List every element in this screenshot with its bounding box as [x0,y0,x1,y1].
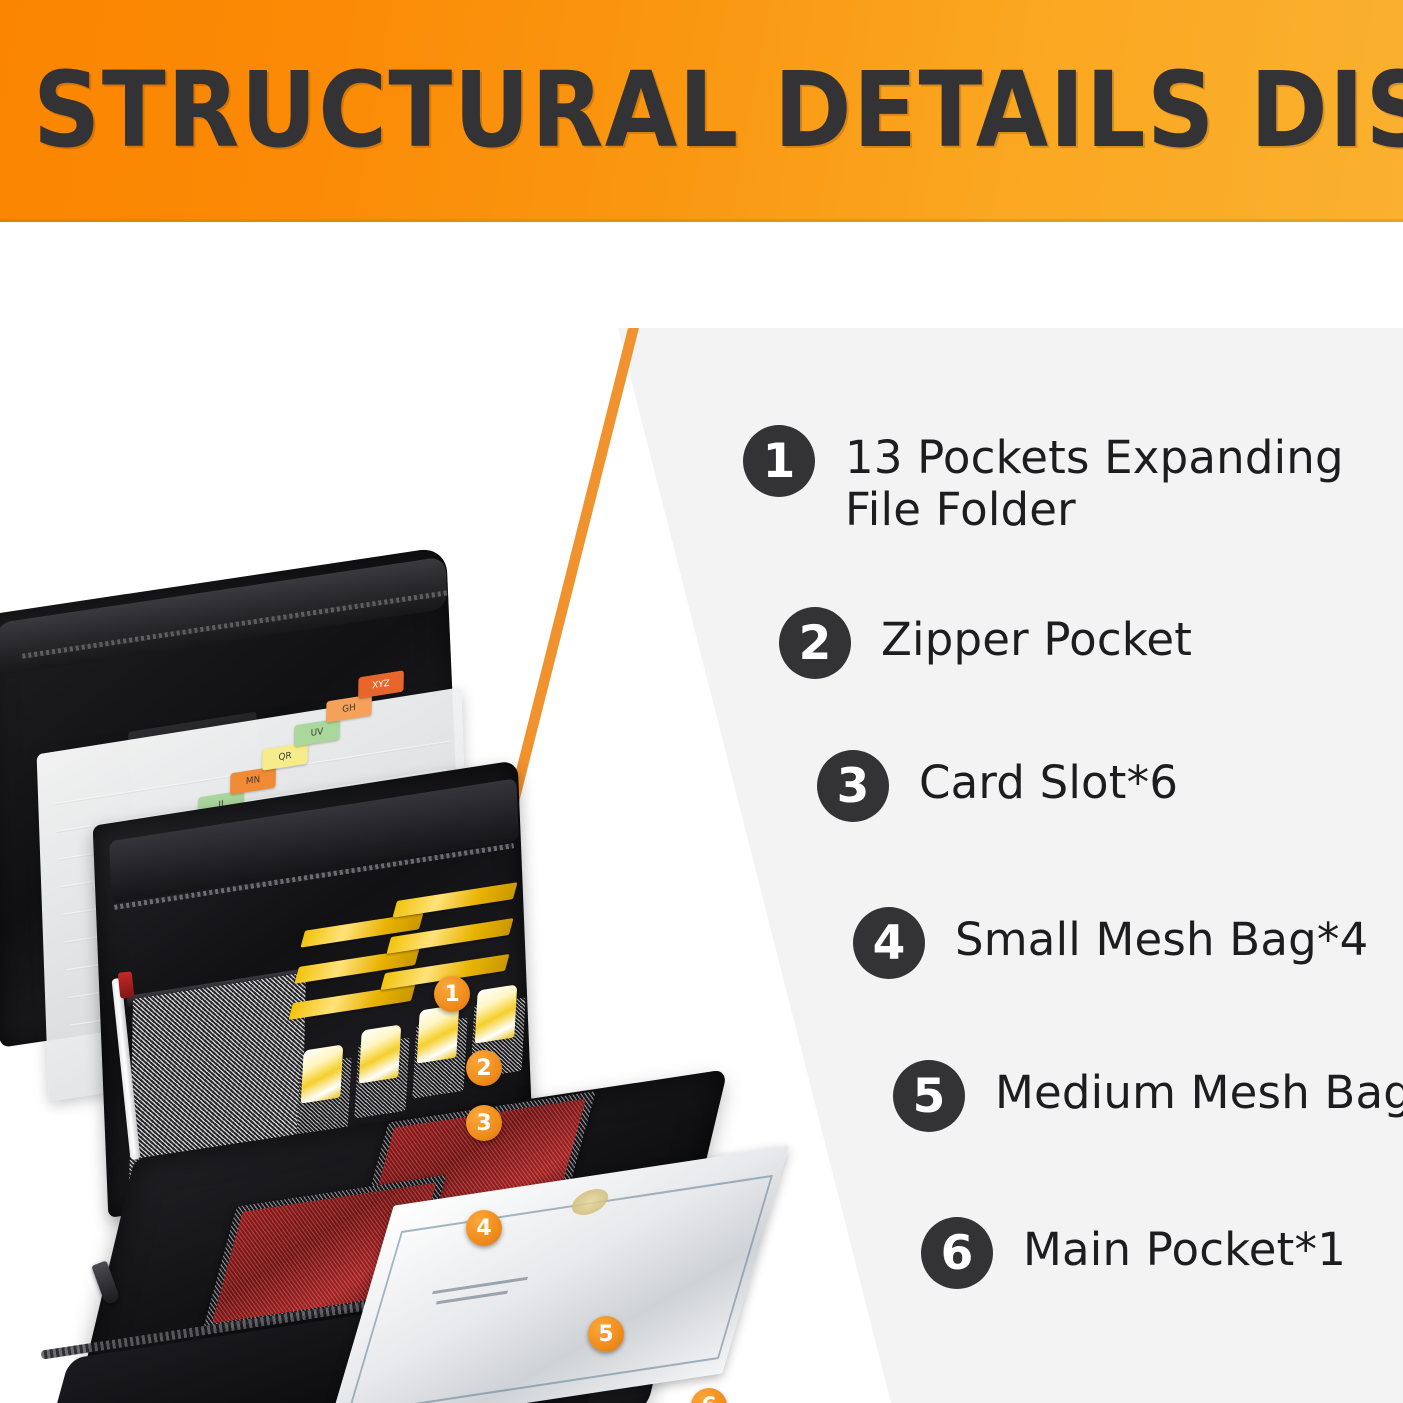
legend-item-3: 3 Card Slot*6 [817,750,1178,822]
legend-badge-4: 4 [853,907,925,979]
legend-label-1: 13 Pockets Expanding File Folder [845,425,1344,536]
legend-badge-2: 2 [779,607,851,679]
legend-label-4: Small Mesh Bag*4 [955,907,1368,966]
photo-callout-2: 2 [466,1050,502,1086]
page-title: STRUCTURAL DETAILS DISPLAY [33,54,1403,166]
legend-item-6: 6 Main Pocket*1 [921,1217,1346,1289]
photo-callout-4: 4 [466,1210,502,1246]
photo-callout-3: 3 [466,1105,502,1141]
content-area: AB CD EF IJ MN QR UV GH XYZ [0,222,1403,1403]
legend-item-1: 1 13 Pockets Expanding File Folder [743,425,1344,536]
legend-item-2: 2 Zipper Pocket [779,607,1192,679]
legend-item-4: 4 Small Mesh Bag*4 [853,907,1368,979]
photo-callout-5: 5 [588,1316,624,1352]
legend-badge-3: 3 [817,750,889,822]
legend-label-2: Zipper Pocket [881,607,1192,666]
legend-label-5: Medium Mesh Bag*4 [995,1060,1403,1119]
photo-callout-1: 1 [434,976,470,1012]
legend-item-5: 5 Medium Mesh Bag*4 [893,1060,1403,1132]
legend-badge-6: 6 [921,1217,993,1289]
legend-badge-1: 1 [743,425,815,497]
legend-label-3: Card Slot*6 [919,750,1178,809]
legend-label-6: Main Pocket*1 [1023,1217,1346,1276]
header-banner: STRUCTURAL DETAILS DISPLAY [0,0,1403,222]
legend-list: 1 13 Pockets Expanding File Folder 2 Zip… [0,222,1403,1403]
legend-badge-5: 5 [893,1060,965,1132]
